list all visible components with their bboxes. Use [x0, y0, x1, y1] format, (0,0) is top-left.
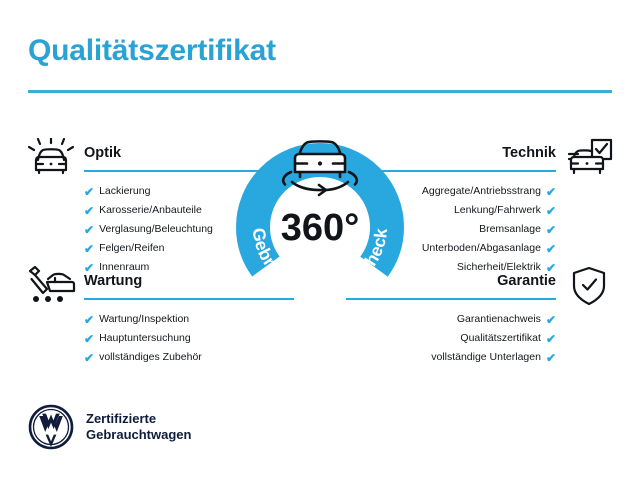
list-item: Unterboden/Abgasanlage ✔ — [380, 239, 612, 258]
list-item: Bremsanlage ✔ — [380, 220, 612, 239]
section-title: Wartung — [28, 272, 260, 290]
section-title: Garantie — [380, 272, 612, 290]
list-item-label: Hauptuntersuchung — [99, 329, 191, 348]
badge-center-label: 360° — [281, 207, 360, 249]
section-header-optik: Optik — [28, 144, 260, 174]
section-header-wartung: Wartung — [28, 272, 260, 302]
list-item-label: Lenkung/Fahrwerk — [454, 201, 541, 220]
section-title: Technik — [380, 144, 612, 162]
list-item: ✔ Wartung/Inspektion — [28, 310, 260, 329]
list-item-label: Lackierung — [99, 182, 150, 201]
list-item: vollständige Unterlagen ✔ — [380, 348, 612, 367]
check-icon: ✔ — [546, 243, 556, 255]
list-item: Garantienachweis ✔ — [380, 310, 612, 329]
list-item-label: Bremsanlage — [479, 220, 541, 239]
check-icon: ✔ — [546, 314, 556, 326]
check-icon: ✔ — [546, 352, 556, 364]
checklist-wartung: ✔ Wartung/Inspektion ✔ Hauptuntersuchung… — [28, 310, 260, 367]
check-icon: ✔ — [84, 333, 94, 345]
list-item: Qualitätszertifikat ✔ — [380, 329, 612, 348]
section-header-garantie: Garantie — [380, 272, 612, 302]
list-item: Aggregate/Antriebsstrang ✔ — [380, 182, 612, 201]
check-icon: ✔ — [84, 352, 94, 364]
list-item: ✔ Karosserie/Anbauteile — [28, 201, 260, 220]
checklist-garantie: Garantienachweis ✔ Qualitätszertifikat ✔… — [380, 310, 612, 367]
page-title: Qualitätszertifikat — [28, 34, 276, 68]
checklist-optik: ✔ Lackierung ✔ Karosserie/Anbauteile ✔ V… — [28, 182, 260, 277]
check-icon: ✔ — [84, 205, 94, 217]
footer-line-2: Gebrauchtwagen — [86, 427, 191, 443]
footer-text: Zertifizierte Gebrauchtwagen — [86, 411, 191, 443]
section-garantie: Garantie Garantienachweis ✔ Qualitätszer… — [380, 272, 612, 367]
list-item-label: Qualitätszertifikat — [460, 329, 541, 348]
check-icon: ✔ — [546, 333, 556, 345]
list-item-label: Felgen/Reifen — [99, 239, 164, 258]
section-header-technik: Technik — [380, 144, 612, 174]
section-wartung: Wartung ✔ Wartung/Inspektion ✔ Hauptunte… — [28, 272, 260, 367]
volkswagen-logo — [28, 404, 74, 450]
check-icon: ✔ — [84, 186, 94, 198]
list-item-label: Wartung/Inspektion — [99, 310, 189, 329]
check-icon: ✔ — [84, 314, 94, 326]
checklist-technik: Aggregate/Antriebsstrang ✔ Lenkung/Fahrw… — [380, 182, 612, 277]
qualitaetszertifikat-page: Qualitätszertifikat Optik — [0, 0, 640, 480]
list-item-label: Karosserie/Anbauteile — [99, 201, 202, 220]
list-item: ✔ Verglasung/Beleuchtung — [28, 220, 260, 239]
list-item-label: Verglasung/Beleuchtung — [99, 220, 213, 239]
footer-brand: Zertifizierte Gebrauchtwagen — [28, 404, 191, 450]
check-icon: ✔ — [84, 243, 94, 255]
section-title: Optik — [28, 144, 260, 162]
check-icon: ✔ — [546, 224, 556, 236]
list-item: ✔ Hauptuntersuchung — [28, 329, 260, 348]
list-item-label: Aggregate/Antriebsstrang — [422, 182, 541, 201]
check-icon: ✔ — [546, 186, 556, 198]
list-item: Lenkung/Fahrwerk ✔ — [380, 201, 612, 220]
check-icon: ✔ — [546, 205, 556, 217]
360-gebrauchtwagen-check-badge: Gebrauchtwagen-Check 360° — [229, 124, 411, 314]
footer-line-1: Zertifizierte — [86, 411, 191, 427]
title-divider — [28, 90, 612, 93]
list-item-label: vollständige Unterlagen — [431, 348, 541, 367]
check-icon: ✔ — [84, 224, 94, 236]
list-item-label: Garantienachweis — [457, 310, 541, 329]
section-optik: Optik ✔ Lackierung ✔ Karosserie/Anbautei… — [28, 144, 260, 277]
list-item-label: vollständiges Zubehör — [99, 348, 202, 367]
list-item: ✔ Lackierung — [28, 182, 260, 201]
section-technik: Technik Aggregate/Antriebsstrang ✔ Lenku… — [380, 144, 612, 277]
list-item: ✔ Felgen/Reifen — [28, 239, 260, 258]
list-item: ✔ vollständiges Zubehör — [28, 348, 260, 367]
list-item-label: Unterboden/Abgasanlage — [422, 239, 541, 258]
